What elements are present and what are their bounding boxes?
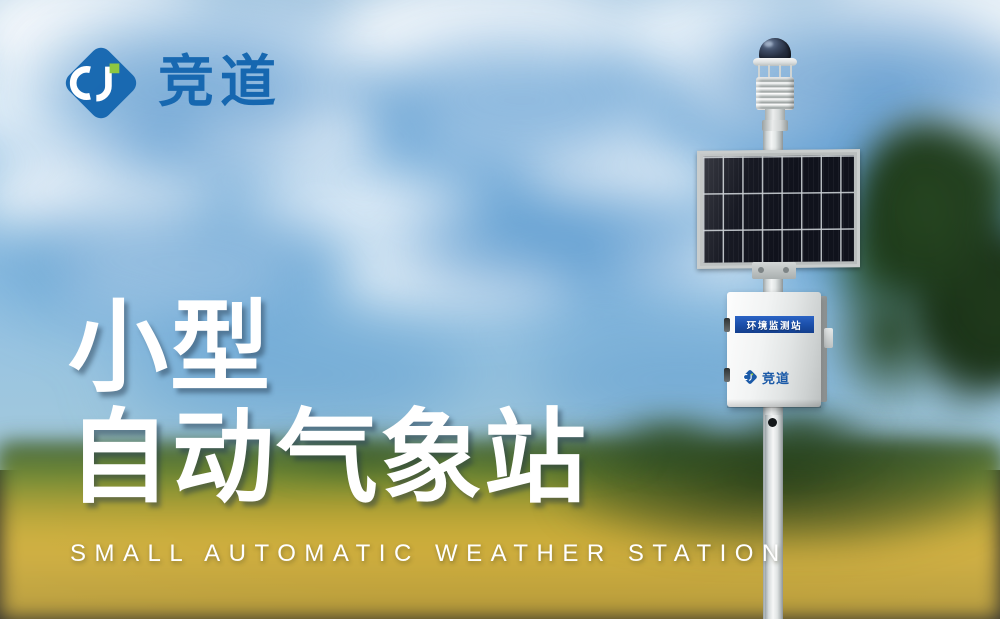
brand-logo-text: 竞道 [158,55,282,111]
headline-subtitle: SMALL AUTOMATIC WEATHER STATION [70,540,788,568]
background-shrub [600,395,900,480]
headline-block: 小型 自动气象站 [68,296,588,512]
headline-line-2: 自动气象站 [68,406,588,512]
brand-logo[interactable]: 竞道 [62,44,282,122]
weather-station-banner: 环境监测站 竞道 [0,0,1000,619]
headline-line-1: 小型 [68,296,588,400]
jingdao-diamond-logo-icon [62,44,140,122]
